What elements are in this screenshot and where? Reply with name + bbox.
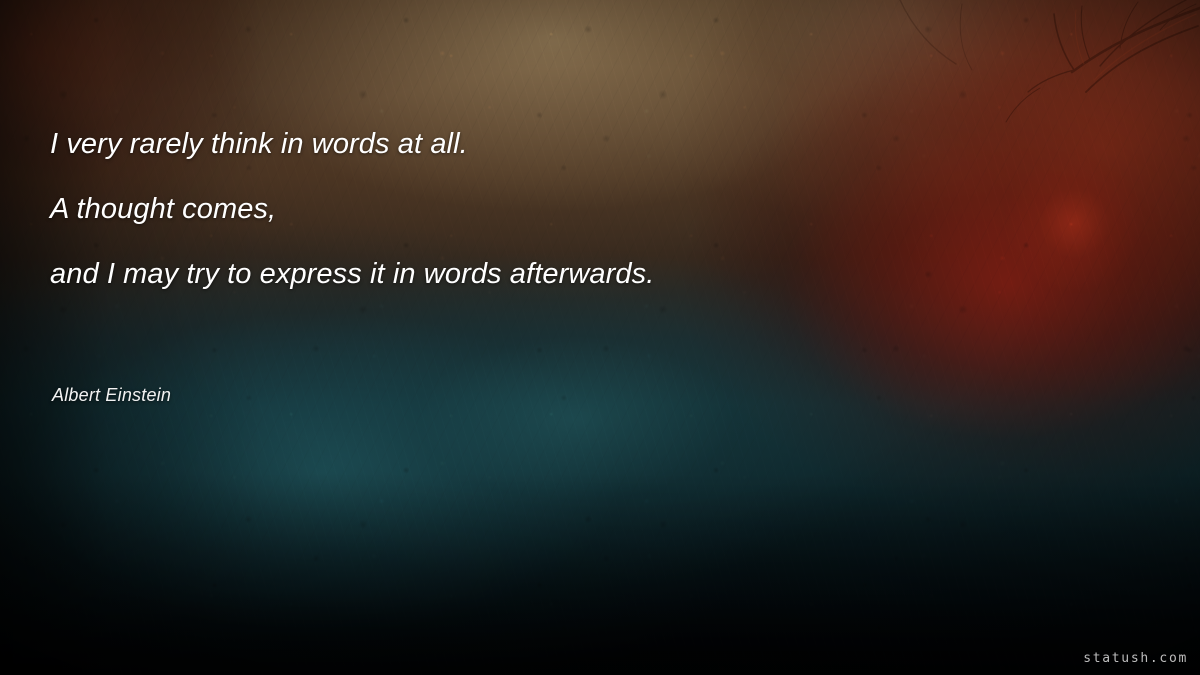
background-grunge-speckle [0,0,1200,675]
quote-line-1: I very rarely think in words at all. [50,112,1050,177]
background-base-gradient [0,0,1200,675]
background-rust-left [0,0,1200,675]
background-branch-filaments [0,0,1200,675]
background-red-splotch [0,0,1200,675]
background-teal-glow [0,0,1200,675]
background-tan-bloom-right [0,0,1200,675]
background-scratch-streaks [0,0,1200,675]
site-watermark: statush.com [1083,651,1188,666]
background-crimson-right [0,0,1200,675]
background-maroon-mid-right [0,0,1200,675]
background-tan-bloom [0,0,1200,675]
quote-line-2: A thought comes, [50,177,1050,242]
background-teal-wisp [0,0,1200,675]
quote-text-block: I very rarely think in words at all. A t… [50,112,1050,307]
quote-card: I very rarely think in words at all. A t… [0,0,1200,675]
quote-author: Albert Einstein [52,385,171,406]
quote-line-3: and I may try to express it in words aft… [50,242,1050,307]
background-vignette [0,0,1200,675]
